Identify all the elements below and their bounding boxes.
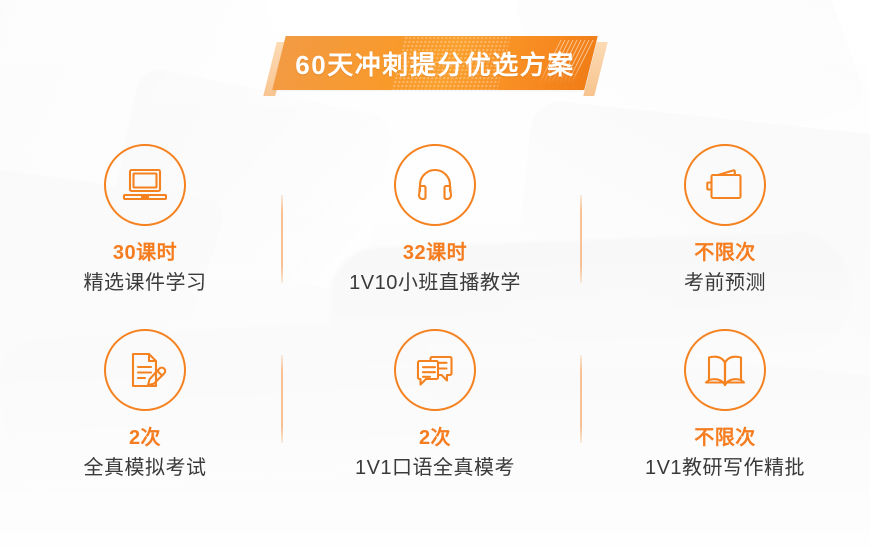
feature-desc: 精选课件学习	[84, 272, 207, 295]
feature-count: 不限次	[694, 242, 756, 264]
feature-item-speaking-mock: 2次 1V1口语全真模考	[290, 317, 580, 502]
feature-item-courseware: 30课时 精选课件学习	[0, 132, 290, 317]
feature-count: 30课时	[113, 242, 177, 264]
feature-count: 2次	[419, 427, 451, 449]
page-title: 60天冲刺提分优选方案	[279, 36, 591, 90]
feature-item-writing-review: 不限次 1V1教研写作精批	[580, 317, 870, 502]
feature-desc: 全真模拟考试	[84, 457, 207, 480]
laptop-icon	[104, 144, 186, 226]
feature-desc: 1V1教研写作精批	[645, 457, 805, 480]
document-pencil-icon	[104, 329, 186, 411]
headphones-icon	[394, 144, 476, 226]
feature-count: 2次	[129, 427, 161, 449]
feature-desc: 1V10小班直播教学	[349, 272, 521, 295]
open-book-icon	[684, 329, 766, 411]
wallet-icon	[684, 144, 766, 226]
feature-desc: 1V1口语全真模考	[355, 457, 515, 480]
chat-bubbles-icon	[394, 329, 476, 411]
feature-item-mock-exam: 2次 全真模拟考试	[0, 317, 290, 502]
feature-item-pre-exam-forecast: 不限次 考前预测	[580, 132, 870, 317]
feature-desc: 考前预测	[684, 272, 766, 295]
promo-page: 60天冲刺提分优选方案 30课时 精选课件学习	[0, 0, 870, 548]
feature-count: 32课时	[403, 242, 467, 264]
feature-count: 不限次	[694, 427, 756, 449]
feature-grid: 30课时 精选课件学习 32课时 1V10小班直播教学	[0, 132, 870, 502]
title-banner: 60天冲刺提分优选方案	[0, 36, 870, 94]
feature-item-live-class: 32课时 1V10小班直播教学	[290, 132, 580, 317]
